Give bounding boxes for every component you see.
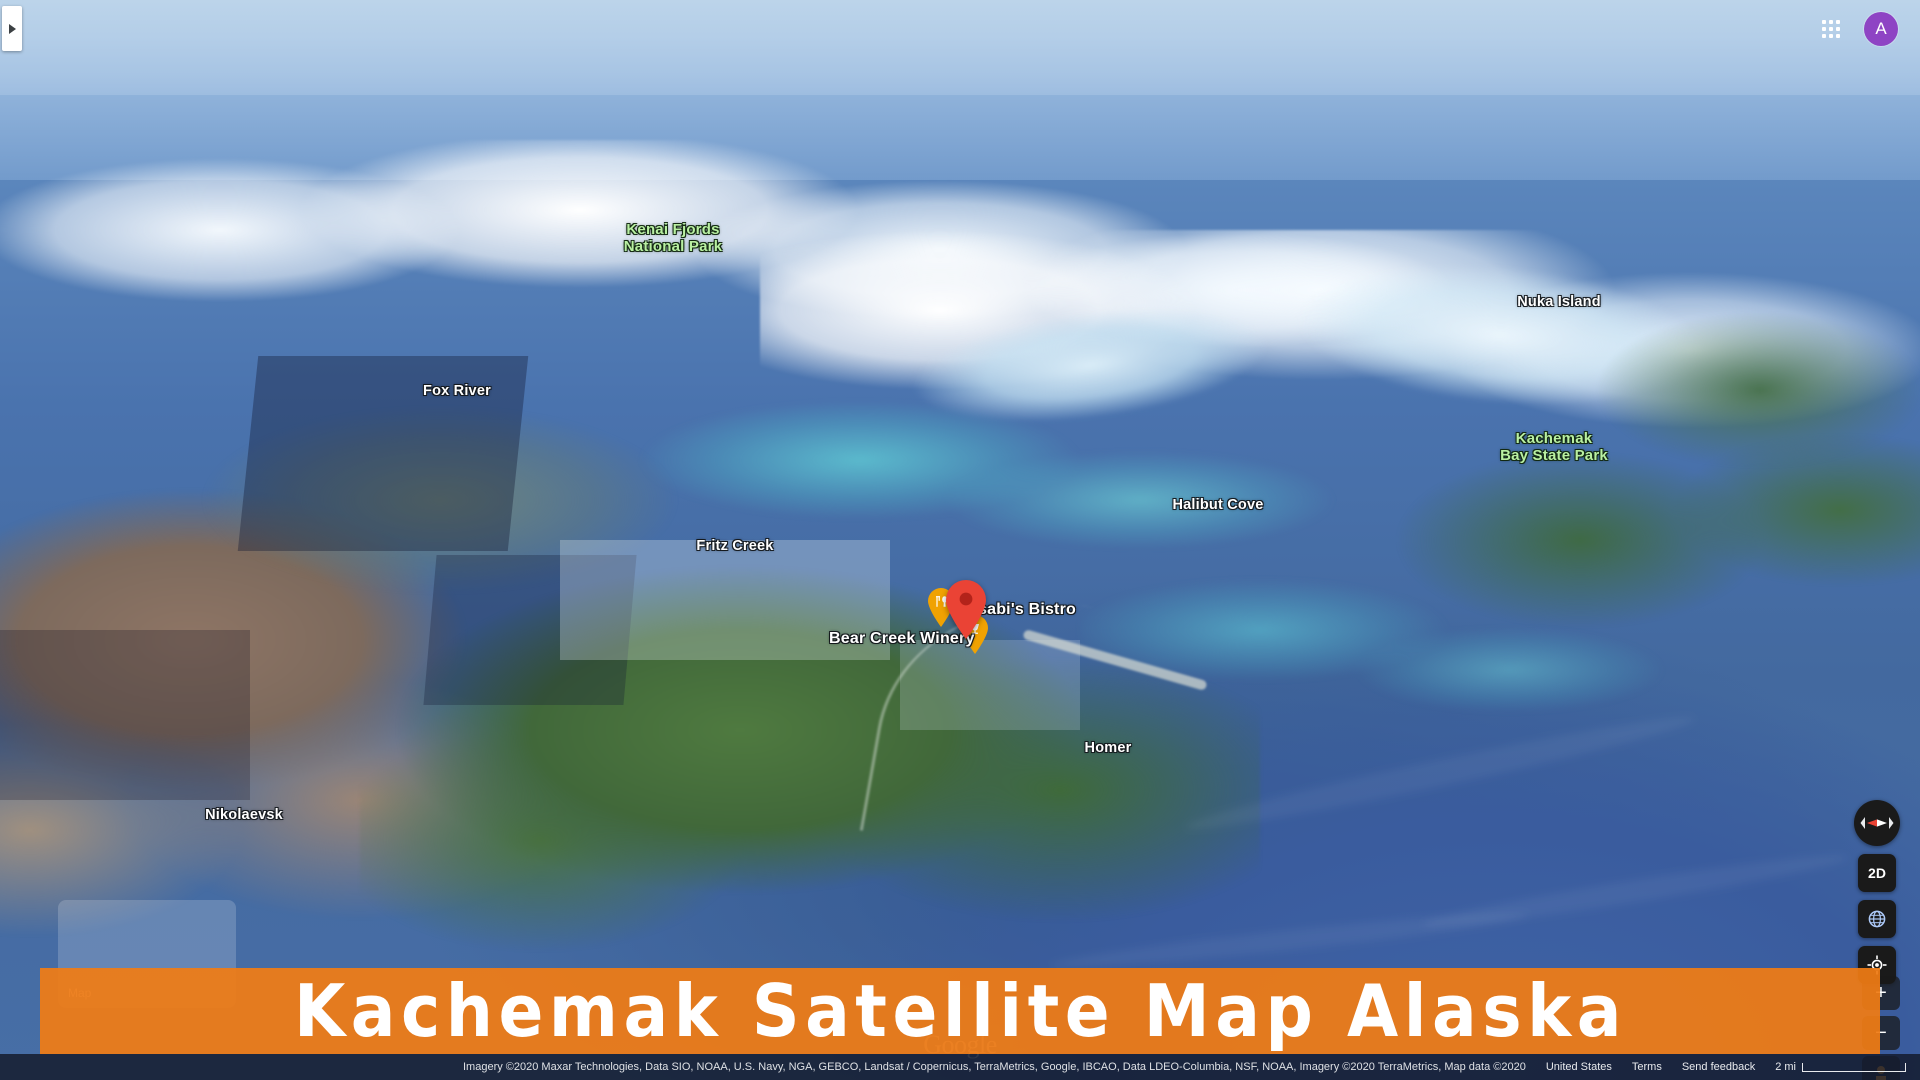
map-canvas[interactable]: Kenai Fjords National ParkNuka IslandFox… [0, 0, 1920, 1080]
compass-icon [1857, 803, 1897, 843]
attribution-bar: Imagery ©2020 Maxar Technologies, Data S… [0, 1054, 1920, 1080]
imagery-tile-seam [0, 630, 250, 800]
sidebar-expand-button[interactable] [2, 6, 22, 51]
map-controls: 2D [1854, 800, 1900, 984]
fjord-land-north [1560, 290, 1920, 500]
google-earth-app: Kenai Fjords National ParkNuka IslandFox… [0, 0, 1920, 1080]
imagery-tile-seam [560, 540, 890, 660]
view-mode-button[interactable]: 2D [1858, 854, 1896, 892]
send-feedback-link[interactable]: Send feedback [1682, 1061, 1755, 1073]
selected-location-pin[interactable] [943, 578, 989, 640]
scale-bar [1802, 1063, 1906, 1072]
scale-label: 2 mi [1775, 1061, 1796, 1073]
attribution-text: Imagery ©2020 Maxar Technologies, Data S… [0, 1061, 1526, 1073]
view-mode-label: 2D [1868, 865, 1886, 881]
compass-button[interactable] [1854, 800, 1900, 846]
scale-indicator: 2 mi [1775, 1061, 1906, 1073]
title-banner: Kachemak Satellite Map Alaska [40, 968, 1880, 1054]
apps-grid-icon[interactable] [1820, 18, 1842, 40]
banner-title: Kachemak Satellite Map Alaska [294, 975, 1627, 1047]
avatar-initial: A [1875, 19, 1886, 39]
chevron-right-icon [9, 24, 16, 34]
terms-link[interactable]: Terms [1632, 1061, 1662, 1073]
imagery-tile-seam [238, 356, 528, 551]
region-link[interactable]: United States [1546, 1061, 1612, 1073]
globe-icon [1867, 909, 1887, 929]
globe-button[interactable] [1858, 900, 1896, 938]
avatar[interactable]: A [1864, 12, 1898, 46]
